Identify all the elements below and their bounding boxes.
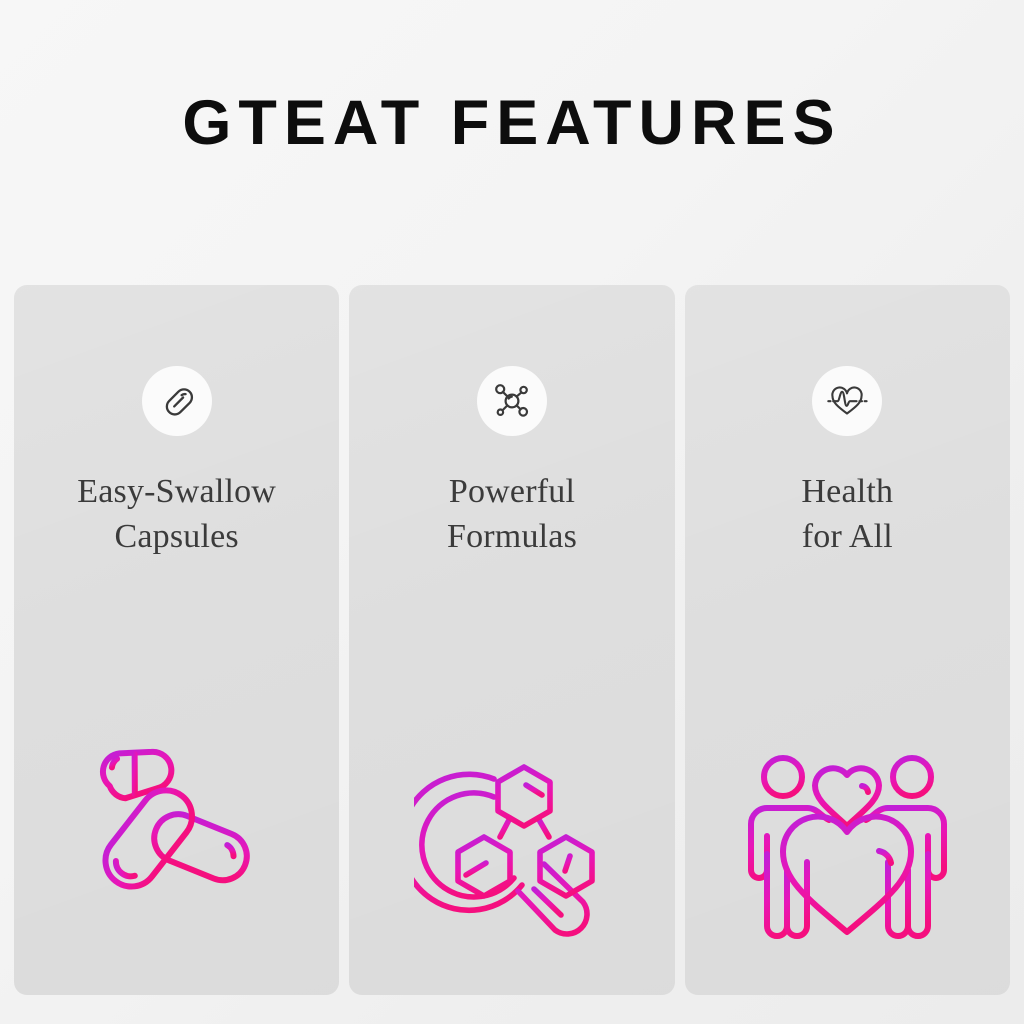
- feature-card-title: Health for All: [801, 469, 893, 559]
- feature-card-powerful-formulas[interactable]: Powerful Formulas: [349, 285, 674, 995]
- molecule-network-icon: [490, 379, 534, 423]
- feature-card-title: Powerful Formulas: [447, 469, 577, 559]
- feature-card-row: Easy-Swallow Capsules: [14, 285, 1010, 995]
- badge-circle-health: [812, 366, 882, 436]
- feature-highlights-page: GTEAT FEATURES Easy-Swallow Capsules: [0, 0, 1024, 1024]
- capsule-pill-icon: [155, 379, 199, 423]
- feature-card-easy-swallow-capsules[interactable]: Easy-Swallow Capsules: [14, 285, 339, 995]
- badge-circle-formulas: [477, 366, 547, 436]
- feature-card-health-for-all[interactable]: Health for All: [685, 285, 1010, 995]
- page-title: GTEAT FEATURES: [0, 88, 1024, 158]
- people-hearts-illustration: [685, 750, 1010, 950]
- molecule-magnifier-illustration: [349, 745, 674, 950]
- capsules-illustration: [14, 745, 339, 950]
- badge-circle-capsules: [142, 366, 212, 436]
- heart-pulse-icon: [824, 378, 870, 424]
- feature-card-title: Easy-Swallow Capsules: [77, 469, 276, 559]
